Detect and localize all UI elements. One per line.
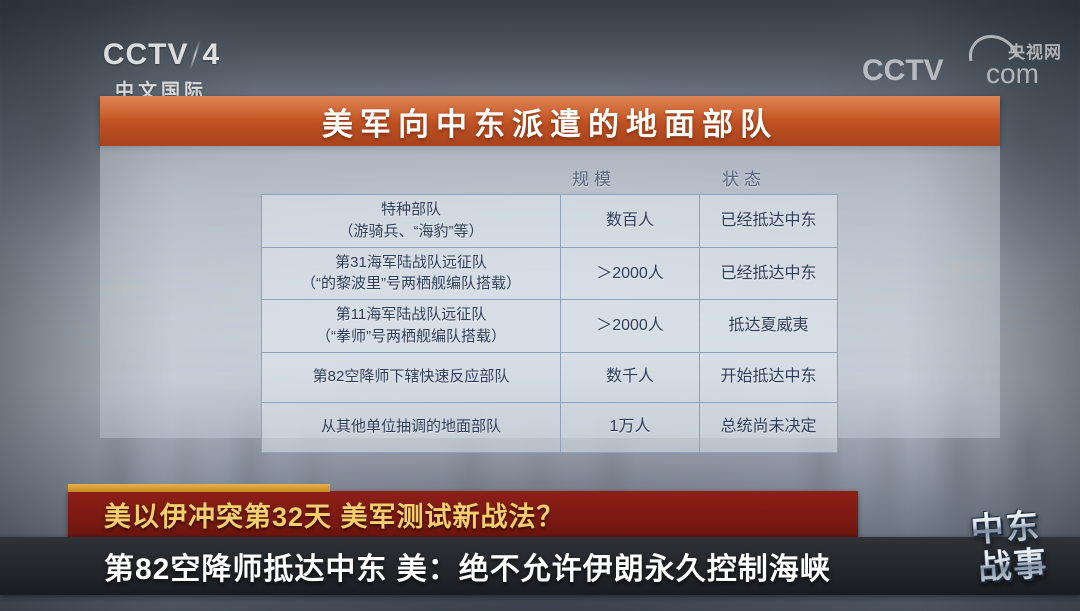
troops-table-body: 特种部队 （游骑兵、“海豹”等） 数百人 已经抵达中东 第31海军陆战队远征队 … (262, 195, 838, 453)
cell-status: 已经抵达中东 (700, 247, 838, 300)
lower-third: 美以伊冲突第32天 美军测试新战法？ 第82空降师抵达中东 美：绝不允许伊朗永久… (0, 481, 1080, 611)
headline-primary-text: 美以伊冲突第32天 美军测试新战法？ (104, 495, 565, 534)
cell-size: 1万人 (561, 402, 700, 452)
cell-status: 开始抵达中东 (700, 352, 838, 402)
cell-unit: 第31海军陆战队远征队 （“的黎波里”号两栖舰编队搭载） (262, 247, 561, 300)
watermark-cn-name: 央视网 (1008, 38, 1062, 63)
table-row: 第11海军陆战队远征队 （“拳师”号两栖舰编队搭载） ＞2000人 抵达夏威夷 (262, 300, 838, 353)
troops-table-wrapper: 特种部队 （游骑兵、“海豹”等） 数百人 已经抵达中东 第31海军陆战队远征队 … (261, 194, 822, 453)
program-badge: 中东 战事 (945, 497, 1069, 597)
table-row: 第82空降师下辖快速反应部队 数千人 开始抵达中东 (262, 352, 838, 402)
cell-size: 数千人 (561, 352, 700, 402)
channel-logo-row: CCTV 4 (103, 38, 219, 72)
headline-secondary-banner: 第82空降师抵达中东 美：绝不允许伊朗永久控制海峡 (0, 537, 1080, 595)
unit-line-1: 第31海军陆战队远征队 (264, 252, 558, 274)
cell-unit: 从其他单位抽调的地面部队 (262, 402, 561, 452)
cell-size: ＞2000人 (561, 247, 700, 300)
cell-size: 数百人 (561, 195, 700, 248)
unit-line-2: （“拳师”号两栖舰编队搭载） (264, 326, 558, 348)
cell-status: 已经抵达中东 (700, 195, 838, 248)
program-badge-line-1: 中东 (970, 508, 1042, 548)
headline-primary-banner: 美以伊冲突第32天 美军测试新战法？ (68, 491, 858, 537)
cell-unit: 第11海军陆战队远征队 （“拳师”号两栖舰编队搭载） (262, 300, 561, 353)
unit-line-1: 特种部队 (264, 199, 558, 221)
channel-number: 4 (202, 38, 219, 72)
cell-status: 抵达夏威夷 (700, 300, 838, 353)
cell-status: 总统尚未决定 (700, 402, 838, 452)
table-row: 特种部队 （游骑兵、“海豹”等） 数百人 已经抵达中东 (262, 195, 838, 248)
table-column-headers: 规模 状态 (261, 165, 822, 191)
cell-unit: 特种部队 （游骑兵、“海豹”等） (262, 195, 561, 248)
channel-logo-text: CCTV (103, 38, 189, 72)
channel-logo-divider-icon (190, 40, 202, 70)
unit-line-1: 从其他单位抽调的地面部队 (264, 416, 558, 438)
unit-line-2: （游骑兵、“海豹”等） (264, 221, 558, 243)
graphic-title-text: 美军向中东派遣的地面部队 (322, 99, 778, 144)
headline-secondary-text: 第82空降师抵达中东 美：绝不允许伊朗永久控制海峡 (104, 544, 831, 588)
table-row: 第31海军陆战队远征队 （“的黎波里”号两栖舰编队搭载） ＞2000人 已经抵达… (262, 247, 838, 300)
unit-line-1: 第11海军陆战队远征队 (264, 304, 558, 326)
troops-table: 特种部队 （游骑兵、“海豹”等） 数百人 已经抵达中东 第31海军陆战队远征队 … (261, 194, 838, 453)
unit-line-1: 第82空降师下辖快速反应部队 (264, 366, 558, 388)
unit-line-2: （“的黎波里”号两栖舰编队搭载） (264, 273, 558, 295)
table-row: 从其他单位抽调的地面部队 1万人 总统尚未决定 (262, 402, 838, 452)
cell-unit: 第82空降师下辖快速反应部队 (262, 352, 561, 402)
cell-size: ＞2000人 (561, 300, 700, 353)
column-header-status: 状态 (665, 165, 823, 190)
cctv-com-watermark: CCTV com 央视网 (862, 36, 1062, 90)
program-badge-line-2: 战事 (977, 545, 1049, 585)
graphic-title-banner: 美军向中东派遣的地面部队 (100, 96, 1000, 146)
broadcast-screen: CCTV 4 中文国际 CCTV com 央视网 美军向中东派遣的地面部队 规模… (0, 0, 1080, 611)
watermark-brand: CCTV (862, 54, 944, 88)
column-header-scale: 规模 (526, 165, 662, 190)
